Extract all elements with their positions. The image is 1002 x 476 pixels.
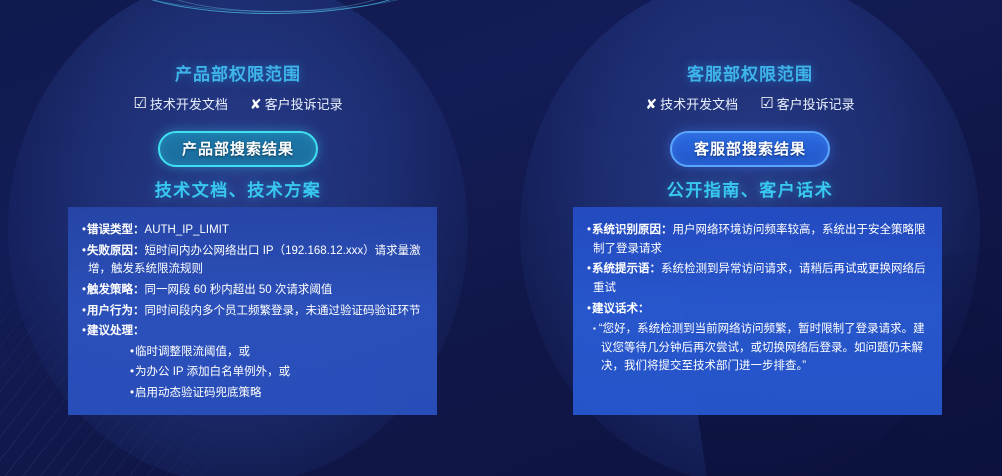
checkbox-checked-icon: ☑ bbox=[760, 96, 773, 111]
detail-line-label: 触发策略： bbox=[87, 284, 145, 296]
cross-mark-icon: ✘ bbox=[645, 97, 657, 111]
column-subtitle-product: 技术文档、技术方案 bbox=[8, 176, 468, 201]
detail-line-label: 失败原因： bbox=[87, 245, 145, 257]
column-title-service: 客服部权限范围 bbox=[520, 60, 980, 85]
chip-label: 客户投诉记录 bbox=[777, 94, 855, 113]
detail-line: 系统识别原因：用户网络环境访问频率较高，系统出于安全策略限制了登录请求 bbox=[587, 221, 928, 258]
cross-mark-icon: ✘ bbox=[250, 97, 262, 111]
detail-line-label: 用户行为： bbox=[87, 305, 145, 317]
detail-line: 错误类型：AUTH_IP_LIMIT bbox=[82, 221, 423, 240]
detail-line: 为办公 IP 添加白名单例外，或 bbox=[130, 363, 423, 382]
chip-label: 技术开发文档 bbox=[660, 94, 738, 113]
detail-line: “您好，系统检测到当前网络访问频繁，暂时限制了登录请求。建议您等待几分钟后再次尝… bbox=[593, 320, 928, 376]
detail-line: 临时调整限流阈值，或 bbox=[130, 343, 423, 362]
search-result-pill-product[interactable]: 产品部搜索结果 bbox=[158, 131, 318, 167]
permission-chips-product: ☑ 技术开发文档 ✘ 客户投诉记录 bbox=[8, 94, 468, 113]
chip-complaint-records-service[interactable]: ☑ 客户投诉记录 bbox=[760, 94, 854, 113]
detail-line-text: 为办公 IP 添加白名单例外，或 bbox=[135, 366, 290, 378]
column-product: 产品部权限范围 ☑ 技术开发文档 ✘ 客户投诉记录 产品部搜索结果 技术文档、技… bbox=[8, 0, 468, 476]
detail-line-label: 建议话术： bbox=[592, 303, 650, 315]
chip-tech-docs-product[interactable]: ☑ 技术开发文档 bbox=[133, 94, 227, 113]
detail-line: 系统提示语：系统检测到异常访问请求，请稍后再试或更换网络后重试 bbox=[587, 260, 928, 297]
slide-canvas: 产品部权限范围 ☑ 技术开发文档 ✘ 客户投诉记录 产品部搜索结果 技术文档、技… bbox=[0, 0, 1002, 476]
column-service: 客服部权限范围 ✘ 技术开发文档 ☑ 客户投诉记录 客服部搜索结果 公开指南、客… bbox=[520, 0, 980, 476]
chip-tech-docs-service[interactable]: ✘ 技术开发文档 bbox=[645, 94, 738, 113]
permission-chips-service: ✘ 技术开发文档 ☑ 客户投诉记录 bbox=[520, 94, 980, 113]
detail-line-text: “您好，系统检测到当前网络访问频繁，暂时限制了登录请求。建议您等待几分钟后再次尝… bbox=[599, 323, 925, 372]
detail-line: 触发策略：同一网段 60 秒内超出 50 次请求阈值 bbox=[82, 281, 423, 300]
chip-complaint-records-product[interactable]: ✘ 客户投诉记录 bbox=[250, 94, 343, 113]
detail-line-label: 系统提示语： bbox=[592, 263, 661, 275]
detail-line-text: 临时调整限流阈值，或 bbox=[135, 346, 250, 358]
chip-label: 客户投诉记录 bbox=[265, 94, 343, 113]
column-title-product: 产品部权限范围 bbox=[8, 60, 468, 85]
chip-label: 技术开发文档 bbox=[150, 94, 228, 113]
detail-line-text: 同时间段内多个员工频繁登录，未通过验证码验证环节 bbox=[145, 305, 421, 317]
detail-line-label: 建议处理： bbox=[87, 325, 145, 337]
detail-line-text: 启用动态验证码兜底策略 bbox=[135, 387, 262, 399]
detail-line-text: 同一网段 60 秒内超出 50 次请求阈值 bbox=[145, 284, 333, 296]
detail-panel-product: 错误类型：AUTH_IP_LIMIT失败原因：短时间内办公网络出口 IP（192… bbox=[68, 207, 437, 415]
search-result-pill-service[interactable]: 客服部搜索结果 bbox=[670, 131, 830, 167]
checkbox-checked-icon: ☑ bbox=[133, 96, 146, 111]
column-subtitle-service: 公开指南、客户话术 bbox=[520, 176, 980, 201]
detail-line: 失败原因：短时间内办公网络出口 IP（192.168.12.xxx）请求量激增，… bbox=[82, 242, 423, 279]
detail-panel-service: 系统识别原因：用户网络环境访问频率较高，系统出于安全策略限制了登录请求系统提示语… bbox=[573, 207, 942, 415]
detail-line: 建议话术： bbox=[587, 300, 928, 319]
detail-line: 建议处理： bbox=[82, 322, 423, 341]
detail-line-label: 系统识别原因： bbox=[592, 224, 673, 236]
detail-line-text: AUTH_IP_LIMIT bbox=[145, 224, 229, 236]
detail-line: 用户行为：同时间段内多个员工频繁登录，未通过验证码验证环节 bbox=[82, 302, 423, 321]
detail-line: 启用动态验证码兜底策略 bbox=[130, 384, 423, 403]
detail-line-label: 错误类型： bbox=[87, 224, 145, 236]
